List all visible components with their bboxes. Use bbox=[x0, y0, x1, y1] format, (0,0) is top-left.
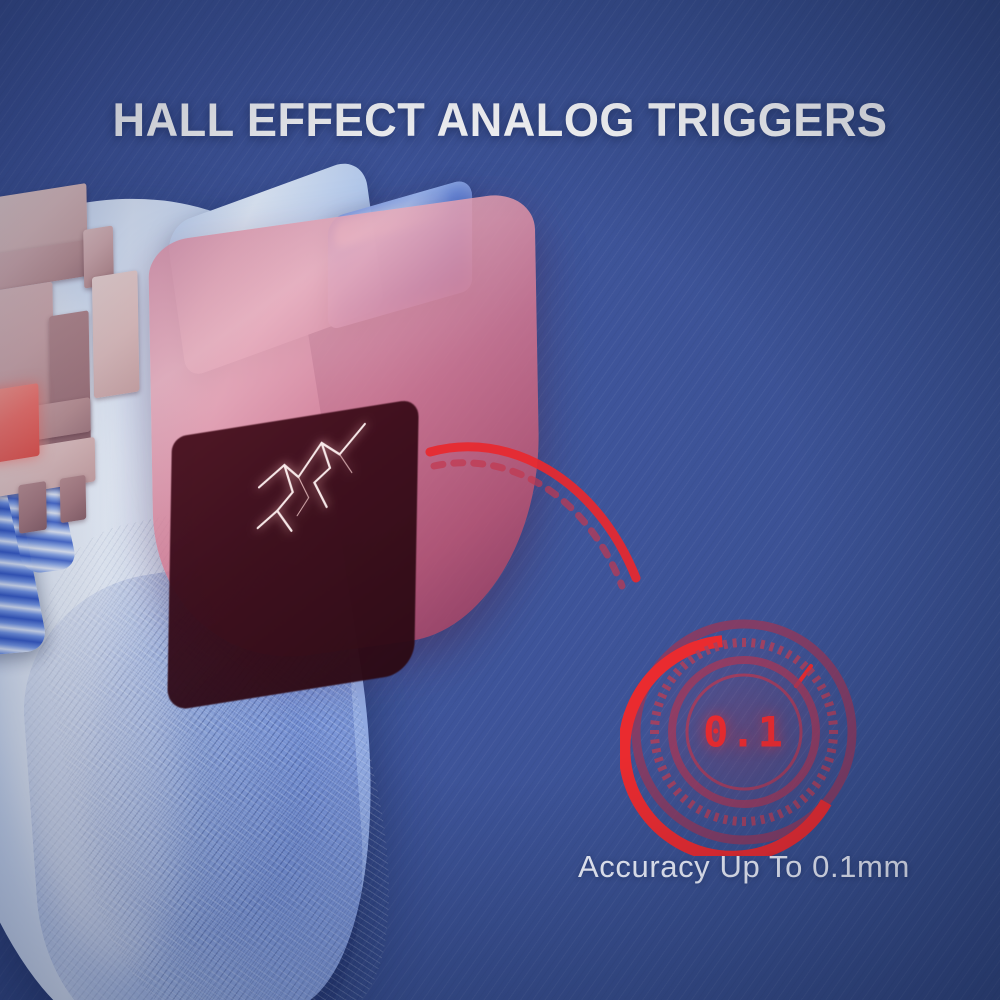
product-feature-banner: 0.1 HALL EFFECT ANALOG TRIGGERS Accuracy… bbox=[0, 0, 1000, 1000]
vignette-overlay bbox=[0, 0, 1000, 1000]
